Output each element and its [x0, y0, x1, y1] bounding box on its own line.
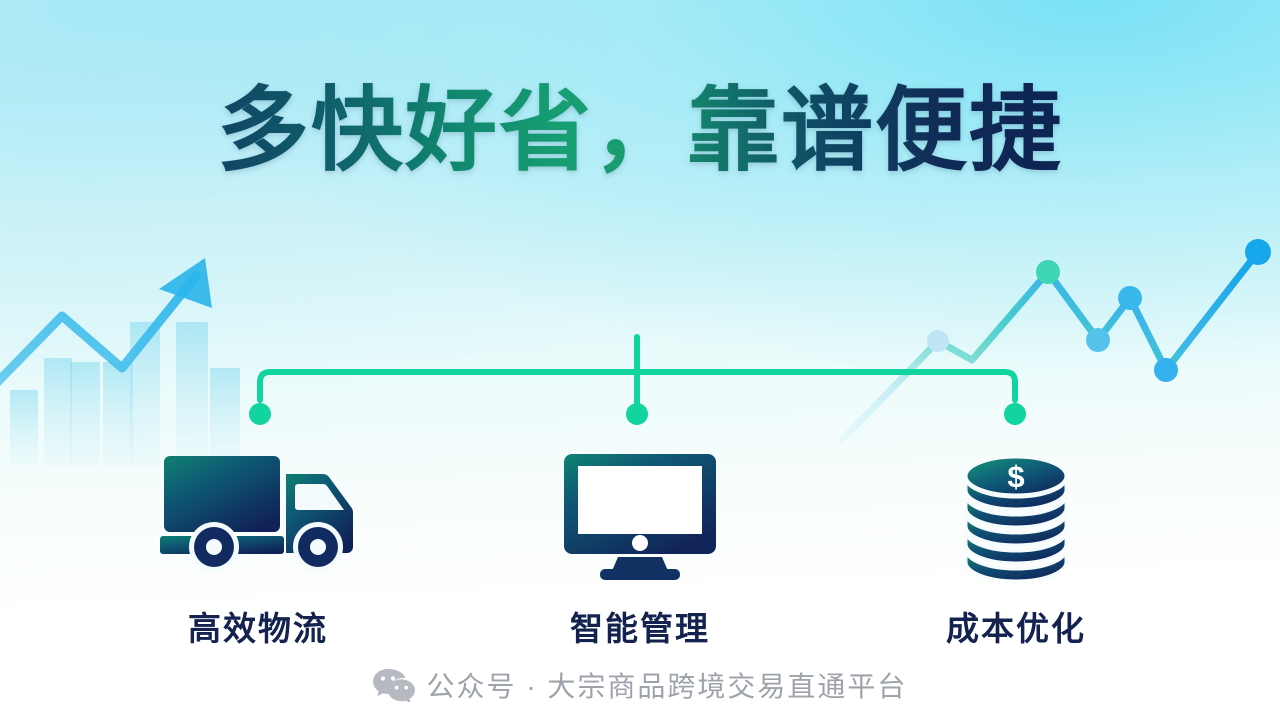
footer: 公众号 · 大宗商品跨境交易直通平台 — [0, 665, 1280, 705]
line-chart-points — [927, 239, 1271, 382]
feature-label: 智能管理 — [520, 602, 760, 650]
feature-column-cost: $ 成本优化 — [896, 445, 1136, 650]
footer-text: 公众号 · 大宗商品跨境交易直通平台 — [427, 665, 908, 705]
feature-column-management: 智能管理 — [520, 445, 760, 650]
feature-label: 高效物流 — [138, 602, 378, 650]
svg-text:$: $ — [1007, 459, 1024, 494]
desktop-monitor-icon — [520, 445, 760, 580]
coin-stack-icon: $ — [896, 445, 1136, 580]
wechat-icon — [373, 668, 415, 702]
promo-poster: 多快好省，靠谱便捷 — [0, 0, 1280, 719]
page-title: 多快好省，靠谱便捷 — [0, 82, 1280, 181]
delivery-truck-icon — [138, 445, 378, 580]
feature-column-logistics: 高效物流 — [138, 445, 378, 650]
feature-label: 成本优化 — [896, 602, 1136, 650]
